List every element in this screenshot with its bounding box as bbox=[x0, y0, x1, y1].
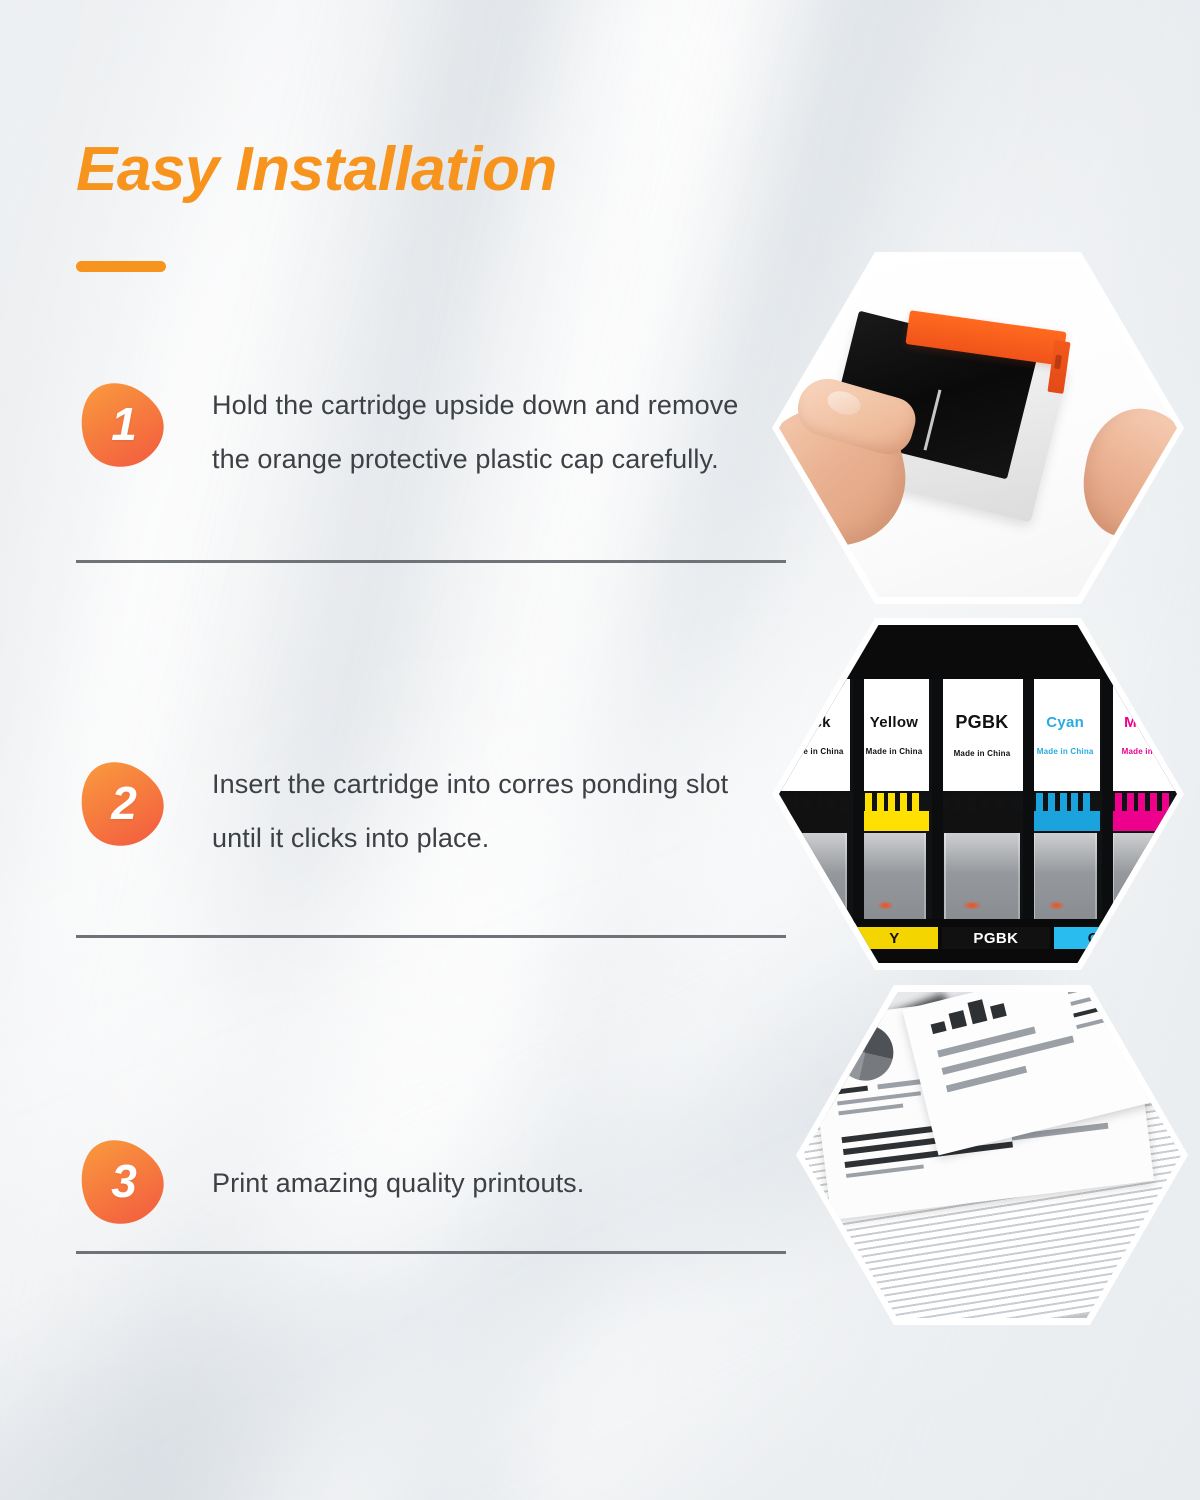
step-text-1: Hold the cartridge upside down and remov… bbox=[212, 378, 782, 486]
photo-printed-documents-stack bbox=[803, 992, 1181, 1318]
ink-comb bbox=[859, 791, 928, 831]
cartridge-made-in: Made in China bbox=[866, 747, 923, 756]
cartridge-made-in: Made in China bbox=[1037, 747, 1094, 756]
ink-comb bbox=[940, 791, 1024, 831]
page-title: Easy Installation bbox=[76, 137, 557, 202]
hexagon-photo-clip bbox=[779, 259, 1177, 597]
cartridge-color-name: Yellow bbox=[870, 714, 919, 731]
title-accent-bar bbox=[76, 261, 166, 272]
hexagon-photo-clip: lack Aade in China bbox=[779, 625, 1177, 963]
cartridge-slot: Yellow Made in China bbox=[859, 679, 928, 923]
slot-chip-pgbk: PGBK bbox=[942, 927, 1049, 949]
step-number-badge-1: 1 bbox=[78, 378, 172, 472]
step-number-3: 3 bbox=[78, 1135, 172, 1229]
step-number-badge-3: 3 bbox=[78, 1135, 172, 1229]
cartridge-slot: lack Aade in China bbox=[781, 679, 850, 923]
step-number-badge-2: 2 bbox=[78, 757, 172, 851]
cartridge-label: Yellow Made in China bbox=[859, 679, 928, 791]
cartridge-made-in: Made in China bbox=[954, 749, 1011, 758]
cartridge-label: Cyan Made in China bbox=[1031, 679, 1100, 791]
cartridge-slot: Mage Made in Ch bbox=[1109, 679, 1177, 923]
step-photo-2: lack Aade in China bbox=[772, 618, 1184, 970]
step-divider-2 bbox=[76, 935, 786, 938]
ink-tank bbox=[1112, 833, 1176, 923]
cartridge-color-name: PGBK bbox=[955, 712, 1008, 733]
cartridge-slot: PGBK Made in China bbox=[940, 679, 1024, 923]
cartridge-label: lack Aade in China bbox=[781, 679, 850, 791]
ink-tank bbox=[784, 833, 848, 923]
cartridge-bay: lack Aade in China bbox=[779, 679, 1177, 923]
step-number-2: 2 bbox=[78, 757, 172, 851]
hexagon-photo-clip bbox=[803, 992, 1181, 1318]
infographic-page: Easy Installation 1 Hold the cartridge u… bbox=[0, 0, 1200, 1500]
step-photo-1 bbox=[772, 252, 1184, 604]
ink-comb bbox=[1109, 791, 1177, 831]
ink-tank bbox=[1033, 833, 1097, 923]
ink-tank bbox=[862, 833, 926, 923]
cartridge-color-name: Cyan bbox=[1046, 714, 1084, 731]
printer-top-bar bbox=[779, 625, 1177, 687]
step-text-3: Print amazing quality printouts. bbox=[212, 1156, 782, 1210]
step-divider-3 bbox=[76, 1251, 786, 1254]
photo-cartridge-cap-removal bbox=[779, 259, 1177, 597]
ink-tank bbox=[944, 833, 1020, 923]
step-number-1: 1 bbox=[78, 378, 172, 472]
photo-printer-cartridge-bay: lack Aade in China bbox=[779, 625, 1177, 963]
ink-comb bbox=[1031, 791, 1100, 831]
cartridge-slot: Cyan Made in China bbox=[1031, 679, 1100, 923]
cartridge-label: PGBK Made in China bbox=[940, 679, 1024, 791]
step-divider-1 bbox=[76, 560, 786, 563]
step-photo-3 bbox=[796, 985, 1188, 1325]
step-text-2: Insert the cartridge into corres ponding… bbox=[212, 757, 782, 865]
